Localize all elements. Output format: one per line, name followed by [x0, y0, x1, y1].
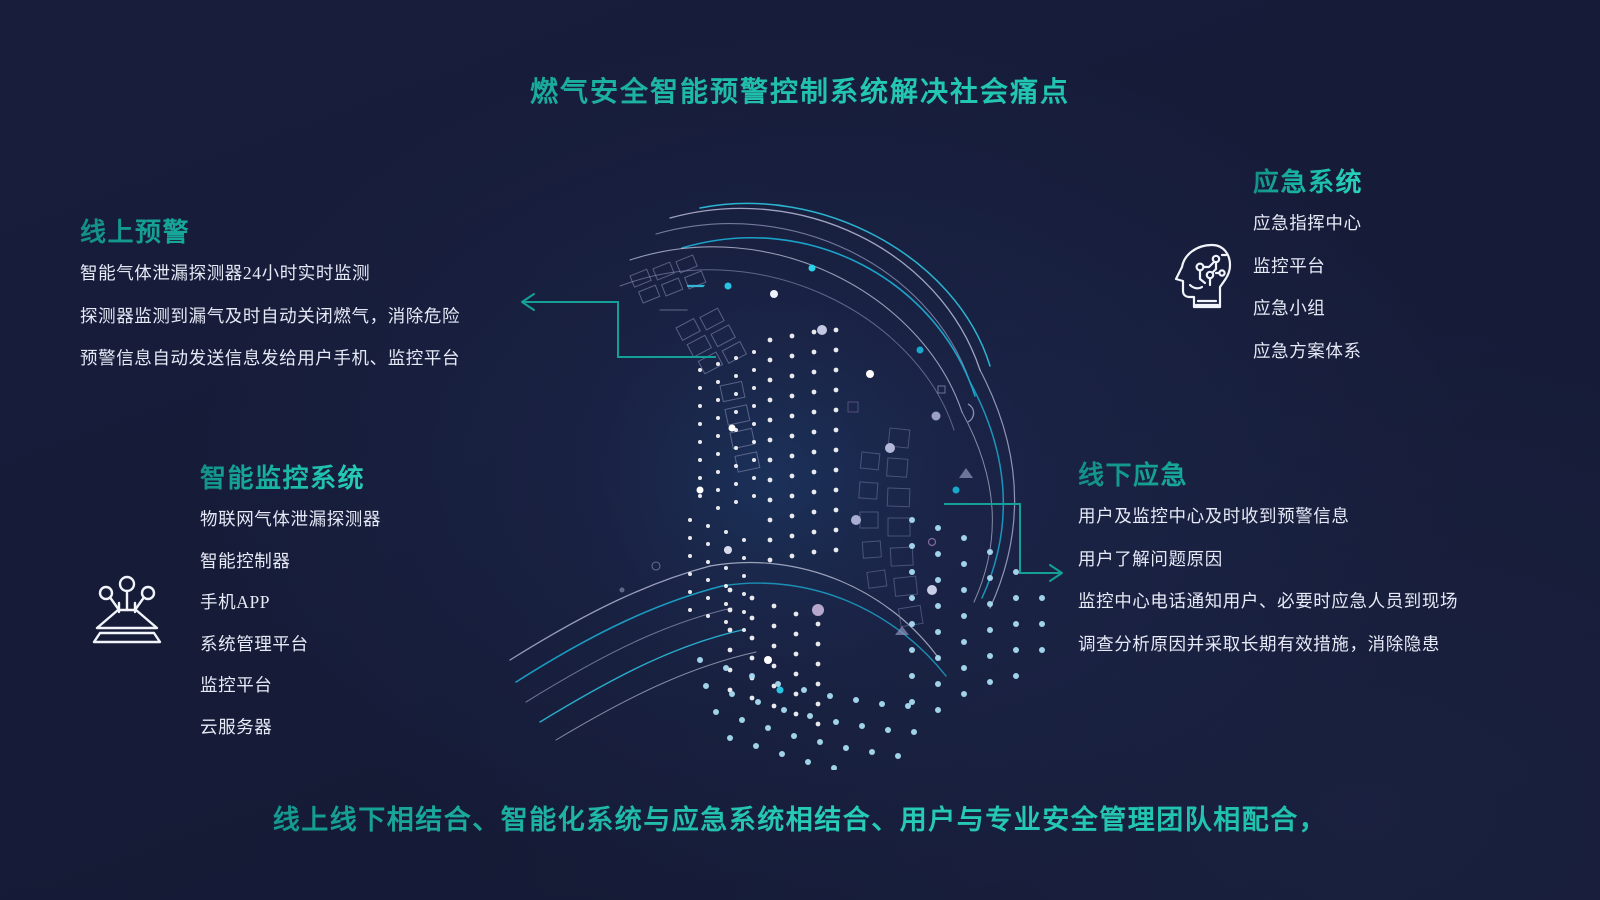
block-line: 应急指挥中心 — [1253, 215, 1363, 233]
block-line: 系统管理平台 — [200, 636, 381, 654]
block-title-emergency-system: 应急系统 — [1253, 162, 1363, 199]
block-line: 监控中心电话通知用户、必要时应急人员到现场 — [1078, 593, 1458, 611]
block-line: 监控平台 — [200, 677, 381, 695]
block-line: 智能气体泄漏探测器24小时实时监测 — [80, 265, 460, 283]
block-line: 云服务器 — [200, 719, 381, 737]
block-title-offline-emergency: 线下应急 — [1078, 455, 1458, 492]
block-title-smart-monitor: 智能监控系统 — [200, 458, 381, 495]
block-smart-monitor-system: 智能监控系统 物联网气体泄漏探测器 智能控制器 手机APP 系统管理平台 监控平… — [200, 458, 381, 760]
block-offline-emergency: 线下应急 用户及监控中心及时收到预警信息 用户了解问题原因 监控中心电话通知用户… — [1078, 455, 1458, 678]
ai-head-circuit-icon — [1172, 241, 1234, 311]
block-line: 手机APP — [200, 594, 381, 612]
block-line: 应急方案体系 — [1253, 343, 1363, 361]
connector-arrow-left — [500, 275, 720, 365]
block-line: 预警信息自动发送信息发给用户手机、监控平台 — [80, 350, 460, 368]
block-line: 应急小组 — [1253, 300, 1363, 318]
block-line: 探测器监测到漏气及时自动关闭燃气，消除危险 — [80, 308, 460, 326]
connector-arrow-right — [940, 495, 1070, 590]
block-line: 监控平台 — [1253, 258, 1363, 276]
bottom-caption: 线上线下相结合、智能化系统与应急系统相结合、用户与专业安全管理团队相配合， — [0, 798, 1600, 837]
layered-network-node-icon — [92, 572, 162, 650]
block-line: 用户了解问题原因 — [1078, 551, 1458, 569]
block-line: 用户及监控中心及时收到预警信息 — [1078, 508, 1458, 526]
block-title-online-warning: 线上预警 — [80, 212, 460, 249]
page-title: 燃气安全智能预警控制系统解决社会痛点 — [0, 70, 1600, 110]
block-online-warning: 线上预警 智能气体泄漏探测器24小时实时监测 探测器监测到漏气及时自动关闭燃气，… — [80, 212, 460, 393]
block-line: 调查分析原因并采取长期有效措施，消除隐患 — [1078, 636, 1458, 654]
block-line: 智能控制器 — [200, 553, 381, 571]
block-line: 物联网气体泄漏探测器 — [200, 511, 381, 529]
block-emergency-system: 应急系统 应急指挥中心 监控平台 应急小组 应急方案体系 — [1253, 162, 1363, 385]
infographic-canvas: 燃气安全智能预警控制系统解决社会痛点 线上预警 智能气体泄漏探测器24小时实时监… — [0, 0, 1600, 900]
